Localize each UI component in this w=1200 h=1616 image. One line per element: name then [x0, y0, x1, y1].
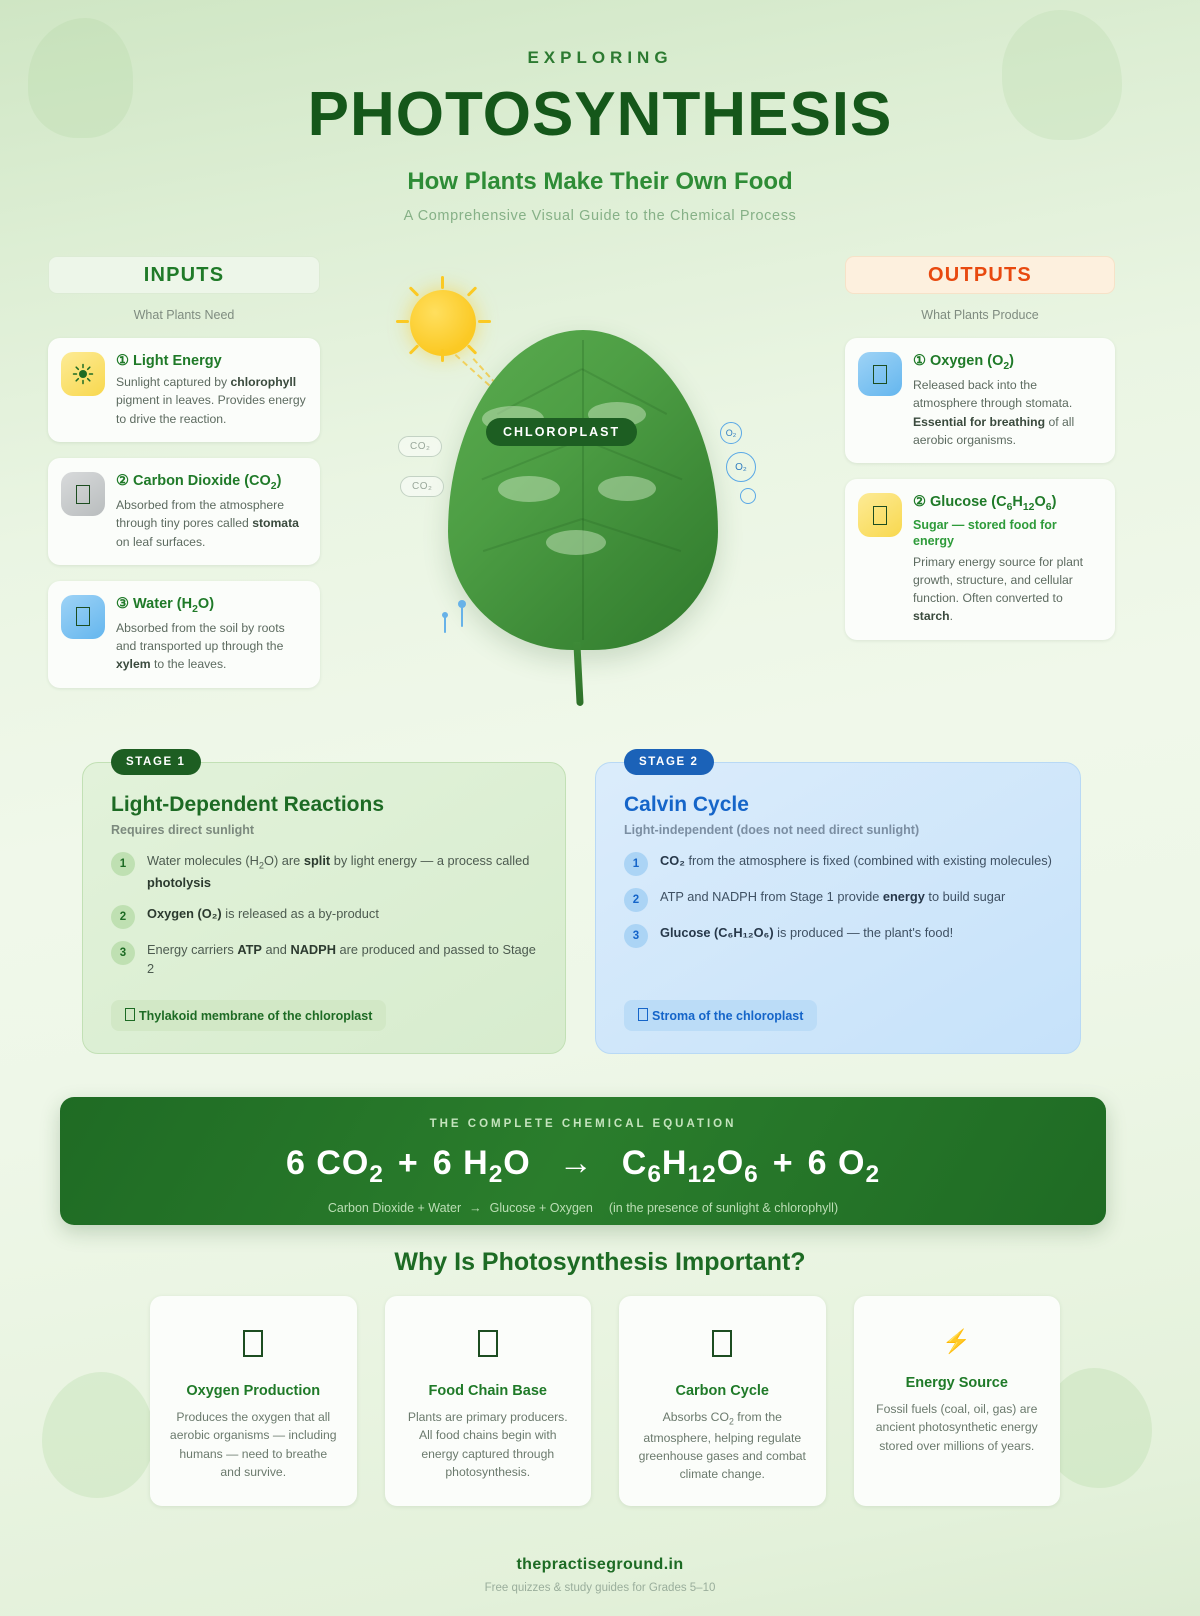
- page-header: EXPLORING PHOTOSYNTHESIS How Plants Make…: [0, 0, 1200, 224]
- page-footer: thepractiseground.in Free quizzes & stud…: [0, 1556, 1200, 1594]
- stage-step: 2 ATP and NADPH from Stage 1 provide ene…: [624, 887, 1052, 912]
- sugar-icon: [858, 493, 902, 537]
- location-pin-icon: [125, 1008, 135, 1021]
- step-text: Water molecules (H2O) are split by light…: [147, 851, 537, 893]
- page-title: PHOTOSYNTHESIS: [0, 84, 1200, 146]
- input-card-text: Absorbed from the soil by roots and tran…: [116, 619, 306, 674]
- stage-2-badge: STAGE 2: [624, 749, 714, 775]
- input-card-title: ③ Water (H2O): [116, 595, 306, 616]
- output-card-note: Sugar — stored food for energy: [913, 517, 1101, 550]
- stage-step: 1 CO₂ from the atmosphere is fixed (comb…: [624, 851, 1052, 876]
- co2-label: CO₂: [398, 436, 442, 457]
- inputs-column: INPUTS What Plants Need ① Light Energy S…: [48, 256, 320, 688]
- stage-2-subtitle: Light-independent (does not need direct …: [624, 823, 1052, 837]
- stage-2-title: Calvin Cycle: [624, 793, 1052, 817]
- lungs-icon: [168, 1330, 339, 1361]
- input-card-text: Absorbed from the atmosphere through tin…: [116, 496, 306, 551]
- page-subtitle: How Plants Make Their Own Food: [0, 168, 1200, 196]
- benefit-card-title: Carbon Cycle: [637, 1383, 808, 1399]
- benefit-card-food-chain-base[interactable]: Food Chain Base Plants are primary produ…: [385, 1296, 592, 1506]
- input-card-water[interactable]: ③ Water (H2O) Absorbed from the soil by …: [48, 581, 320, 688]
- stage-1-panel: STAGE 1 Light-Dependent Reactions Requir…: [82, 762, 566, 1054]
- output-card-glucose[interactable]: ② Glucose (C6H12O6) Sugar — stored food …: [845, 479, 1115, 640]
- step-text: Energy carriers ATP and NADPH are produc…: [147, 940, 537, 980]
- output-card-text: Released back into the atmosphere throug…: [913, 376, 1101, 449]
- granum: [498, 476, 560, 502]
- stage-1-steps: 1 Water molecules (H2O) are split by lig…: [111, 851, 537, 979]
- droplet-icon: [61, 595, 105, 639]
- step-number: 2: [111, 905, 135, 929]
- o2-bubble: O₂: [720, 422, 742, 444]
- input-card-title: ① Light Energy: [116, 352, 306, 370]
- benefit-card-carbon-cycle[interactable]: Carbon Cycle Absorbs CO2 from the atmosp…: [619, 1296, 826, 1506]
- benefit-card-text: Absorbs CO2 from the atmosphere, helping…: [637, 1408, 808, 1484]
- decorative-leaf-blob: [1044, 1368, 1152, 1488]
- location-pin-icon: [638, 1008, 648, 1021]
- sun-ray: [409, 286, 420, 297]
- why-section-title: Why Is Photosynthesis Important?: [0, 1248, 1200, 1277]
- granum: [546, 530, 606, 555]
- stage-1-location-badge: Thylakoid membrane of the chloroplast: [111, 1000, 386, 1031]
- step-number: 3: [624, 924, 648, 948]
- sun-ray: [467, 344, 478, 355]
- plant-icon: [403, 1330, 574, 1361]
- input-card-text: Sunlight captured by chlorophyll pigment…: [116, 373, 306, 428]
- benefit-cards: Oxygen Production Produces the oxygen th…: [150, 1296, 1060, 1506]
- outputs-subheading: What Plants Produce: [845, 308, 1115, 322]
- step-number: 1: [111, 852, 135, 876]
- infographic-page: EXPLORING PHOTOSYNTHESIS How Plants Make…: [0, 0, 1200, 1616]
- step-number: 1: [624, 852, 648, 876]
- benefit-card-energy-source[interactable]: ⚡ Energy Source Fossil fuels (coal, oil,…: [854, 1296, 1061, 1506]
- sun-ray: [409, 344, 420, 355]
- wind-icon: [858, 352, 902, 396]
- equation-words: Carbon Dioxide + Water→Glucose + Oxygen(…: [60, 1201, 1106, 1215]
- stage-step: 1 Water molecules (H2O) are split by lig…: [111, 851, 537, 893]
- stage-2-location-text: Stroma of the chloroplast: [652, 1009, 803, 1023]
- step-text: CO₂ from the atmosphere is fixed (combin…: [660, 851, 1052, 876]
- input-card-title: ② Carbon Dioxide (CO2): [116, 472, 306, 493]
- input-card-light-energy[interactable]: ① Light Energy Sunlight captured by chlo…: [48, 338, 320, 442]
- outputs-heading: OUTPUTS: [845, 256, 1115, 294]
- sun-ray: [441, 276, 444, 289]
- footer-tagline: Free quizzes & study guides for Grades 5…: [0, 1582, 1200, 1594]
- chloroplast-label: CHLOROPLAST: [486, 418, 637, 446]
- benefit-card-text: Produces the oxygen that all aerobic org…: [168, 1408, 339, 1481]
- input-card-carbon-dioxide[interactable]: ② Carbon Dioxide (CO2) Absorbed from the…: [48, 458, 320, 565]
- output-card-title: ① Oxygen (O2): [913, 352, 1101, 373]
- footer-site-name[interactable]: thepractiseground.in: [0, 1556, 1200, 1574]
- stage-2-steps: 1 CO₂ from the atmosphere is fixed (comb…: [624, 851, 1052, 948]
- outputs-column: OUTPUTS What Plants Produce ① Oxygen (O2…: [845, 256, 1115, 640]
- output-card-oxygen[interactable]: ① Oxygen (O2) Released back into the atm…: [845, 338, 1115, 463]
- bolt-icon: ⚡: [872, 1330, 1043, 1353]
- leaf-diagram: CHLOROPLAST CO₂ CO₂ O₂ O₂: [390, 282, 780, 702]
- benefit-card-title: Food Chain Base: [403, 1383, 574, 1399]
- sun-icon: [61, 352, 105, 396]
- step-text: Oxygen (O₂) is released as a by-product: [147, 904, 379, 929]
- output-card-title: ② Glucose (C6H12O6): [913, 493, 1101, 514]
- benefit-card-oxygen-production[interactable]: Oxygen Production Produces the oxygen th…: [150, 1296, 357, 1506]
- inputs-subheading: What Plants Need: [48, 308, 320, 322]
- recycle-icon: [637, 1330, 808, 1361]
- leaf-stem: [573, 642, 583, 706]
- equation-formula: 6 CO2+6 H2O→C6H12O6+6 O2: [60, 1144, 1106, 1189]
- step-text: Glucose (C₆H₁₂O₆) is produced — the plan…: [660, 923, 953, 948]
- stage-step: 2 Oxygen (O₂) is released as a by-produc…: [111, 904, 537, 929]
- o2-bubble: [740, 488, 756, 504]
- inputs-heading: INPUTS: [48, 256, 320, 294]
- benefit-card-title: Energy Source: [872, 1375, 1043, 1391]
- sun-ray: [478, 320, 491, 323]
- eyebrow-text: EXPLORING: [0, 48, 1200, 68]
- sun-ray: [441, 349, 444, 362]
- benefit-card-title: Oxygen Production: [168, 1383, 339, 1399]
- benefit-card-text: Fossil fuels (coal, oil, gas) are ancien…: [872, 1400, 1043, 1455]
- o2-bubble: O₂: [726, 452, 756, 482]
- stage-2-location-badge: Stroma of the chloroplast: [624, 1000, 817, 1031]
- chemical-equation-banner: THE COMPLETE CHEMICAL EQUATION 6 CO2+6 H…: [60, 1097, 1106, 1225]
- step-number: 2: [624, 888, 648, 912]
- sun-ray: [467, 286, 478, 297]
- decorative-leaf-blob: [42, 1372, 154, 1498]
- stage-1-subtitle: Requires direct sunlight: [111, 823, 537, 837]
- co2-label: CO₂: [400, 476, 444, 497]
- cloud-icon: [61, 472, 105, 516]
- granum: [598, 476, 656, 501]
- stage-1-location-text: Thylakoid membrane of the chloroplast: [139, 1009, 372, 1023]
- step-text: ATP and NADPH from Stage 1 provide energ…: [660, 887, 1005, 912]
- equation-label: THE COMPLETE CHEMICAL EQUATION: [60, 1118, 1106, 1130]
- stage-2-panel: STAGE 2 Calvin Cycle Light-independent (…: [595, 762, 1081, 1054]
- output-card-text: Primary energy source for plant growth, …: [913, 553, 1101, 626]
- benefit-card-text: Plants are primary producers. All food c…: [403, 1408, 574, 1481]
- stage-step: 3 Glucose (C₆H₁₂O₆) is produced — the pl…: [624, 923, 1052, 948]
- page-tagline: A Comprehensive Visual Guide to the Chem…: [0, 208, 1200, 224]
- sun-ray: [396, 320, 409, 323]
- stage-1-title: Light-Dependent Reactions: [111, 793, 537, 817]
- stage-1-badge: STAGE 1: [111, 749, 201, 775]
- stage-step: 3 Energy carriers ATP and NADPH are prod…: [111, 940, 537, 980]
- step-number: 3: [111, 941, 135, 965]
